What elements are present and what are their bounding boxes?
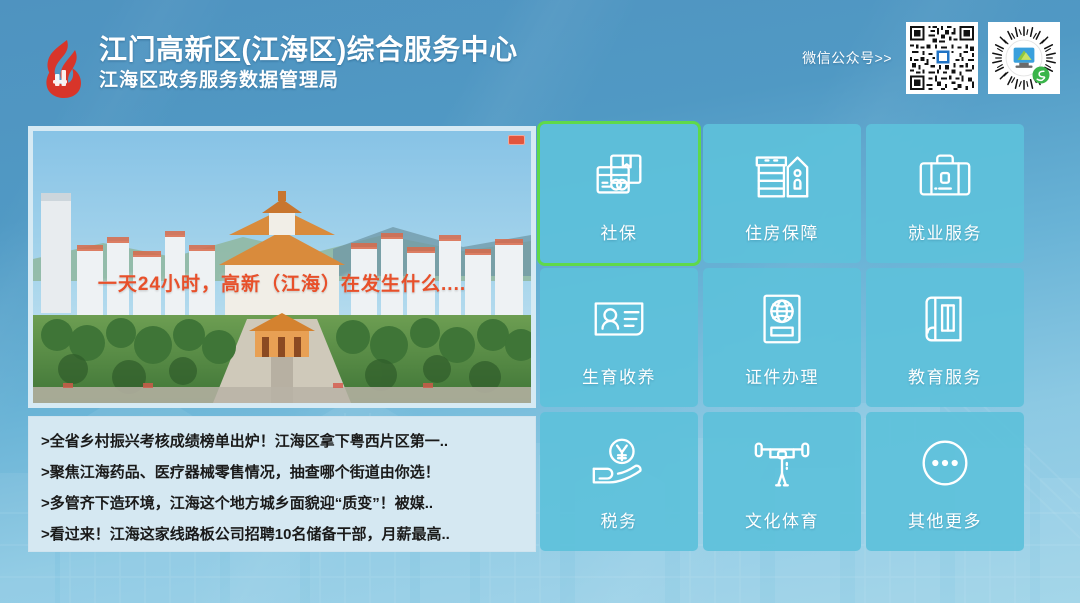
service-tile-zhengjian[interactable]: 证件办理 <box>703 268 861 407</box>
tile-label: 教育服务 <box>908 363 982 388</box>
card-and-box-icon <box>588 144 650 206</box>
tile-label: 住房保障 <box>745 219 819 244</box>
news-list: >全省乡村振兴考核成绩榜单出炉！江海区拿下粤西片区第一.. >聚焦江海药品、医疗… <box>28 416 536 552</box>
hand-yuan-coin-icon <box>588 432 650 494</box>
house-building-icon <box>751 144 813 206</box>
header: 江门高新区(江海区)综合服务中心 江海区政务服务数据管理局 微信公众号>> <box>0 0 1080 118</box>
service-tile-qita[interactable]: 其他更多 <box>866 412 1024 551</box>
wechat-qr-zone: 微信公众号>> <box>802 22 1060 94</box>
video-live-badge <box>508 135 525 145</box>
passport-globe-icon <box>751 288 813 350</box>
service-tile-jiuye[interactable]: 就业服务 <box>866 124 1024 263</box>
promo-video-player[interactable]: 一天24小时，高新（江海）在发生什么.... <box>28 126 536 408</box>
briefcase-icon <box>914 144 976 206</box>
service-tile-jiaoyu[interactable]: 教育服务 <box>866 268 1024 407</box>
more-dots-circle-icon <box>914 432 976 494</box>
brand-block: 江门高新区(江海区)综合服务中心 江海区政务服务数据管理局 <box>34 36 518 100</box>
tile-label: 就业服务 <box>908 219 982 244</box>
tile-label: 税务 <box>601 507 638 532</box>
id-card-person-icon <box>588 288 650 350</box>
city-aerial-scene <box>33 131 531 403</box>
service-tile-grid: 社保 住房保障 就业服务 <box>540 124 1024 551</box>
page-title: 江门高新区(江海区)综合服务中心 <box>99 36 518 64</box>
tile-label: 证件办理 <box>745 363 819 388</box>
service-tile-shebao[interactable]: 社保 <box>540 124 698 263</box>
kiosk-screen: 江门高新区(江海区)综合服务中心 江海区政务服务数据管理局 微信公众号>> <box>0 0 1080 603</box>
news-item[interactable]: >聚焦江海药品、医疗器械零售情况，抽查哪个街道由你选！ <box>41 457 523 488</box>
tile-label: 生育收养 <box>582 363 656 388</box>
service-tile-wenti[interactable]: 文化体育 <box>703 412 861 551</box>
wechat-official-account-qr-icon[interactable] <box>906 22 978 94</box>
weightlifter-icon <box>751 432 813 494</box>
page-subtitle: 江海区政务服务数据管理局 <box>99 71 518 90</box>
tile-label: 其他更多 <box>908 507 982 532</box>
service-tile-shengyu[interactable]: 生育收养 <box>540 268 698 407</box>
wechat-label: 微信公众号>> <box>802 48 892 68</box>
service-tile-shuiwu[interactable]: 税务 <box>540 412 698 551</box>
tile-label: 文化体育 <box>745 507 819 532</box>
video-caption: 一天24小时，高新（江海）在发生什么.... <box>33 269 531 296</box>
news-item[interactable]: >多管齐下造环境，江海这个地方城乡面貌迎“质变”！被媒.. <box>41 488 523 519</box>
service-tile-zhufang[interactable]: 住房保障 <box>703 124 861 263</box>
left-column: 一天24小时，高新（江海）在发生什么.... >全省乡村振兴考核成绩榜单出炉！江… <box>28 126 536 552</box>
news-item[interactable]: >全省乡村振兴考核成绩榜单出炉！江海区拿下粤西片区第一.. <box>41 426 523 457</box>
scroll-diploma-icon <box>914 288 976 350</box>
tile-label: 社保 <box>601 219 638 244</box>
flame-torch-logo-icon <box>34 38 90 100</box>
news-item[interactable]: >看过来！江海这家线路板公司招聘10名储备干部，月薪最高.. <box>41 519 523 550</box>
wechat-mini-program-code-icon[interactable] <box>988 22 1060 94</box>
